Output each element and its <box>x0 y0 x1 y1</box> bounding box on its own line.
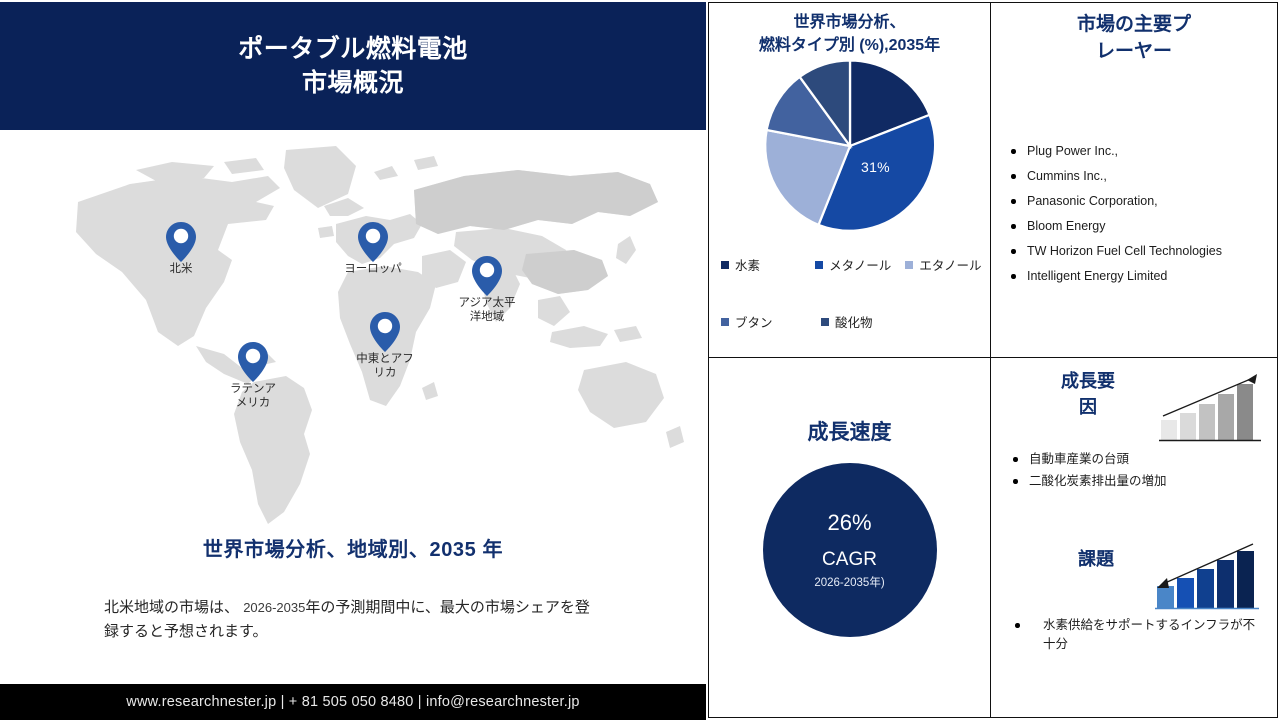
pie-legend: 水素 メタノール エタノール ブタン <box>715 255 990 369</box>
map-caption: 世界市場分析、地域別、2035 年 <box>0 533 706 562</box>
list-item: Plug Power Inc., <box>1005 143 1273 159</box>
bar <box>1161 420 1177 440</box>
bar <box>1237 551 1254 608</box>
bar <box>1217 560 1234 608</box>
bar <box>1218 394 1234 440</box>
world-map-svg <box>18 132 688 532</box>
map-pin-north-america[interactable]: 北米 <box>164 220 198 264</box>
location-pin-icon <box>470 254 504 298</box>
pie-chart-area: 31% <box>709 55 990 251</box>
list-item: 水素供給をサポートするインフラが不十分 <box>1001 616 1263 654</box>
map-description-years: 2026-2035 <box>243 600 305 615</box>
map-label-middle-east-africa: 中東とアフリカ <box>356 352 414 380</box>
list-item: 自動車産業の台頭 <box>1001 450 1267 468</box>
map-pin-latin-america[interactable]: ラテンアメリカ <box>236 340 270 384</box>
legend-label-butane: ブタン <box>735 312 773 331</box>
bar <box>1199 404 1215 440</box>
list-item: Bloom Energy <box>1005 218 1273 234</box>
legend-item-ethanol[interactable]: エタノール <box>905 255 990 274</box>
map-pin-asia-pacific[interactable]: アジア太平洋地域 <box>470 254 504 298</box>
page-title-line2: 市場概況 <box>302 69 404 97</box>
pie-panel-title: 世界市場分析、 燃料タイプ別 (%),2035年 <box>709 3 990 57</box>
location-pin-icon <box>164 220 198 264</box>
map-description-before: 北米地域の市場は、 <box>104 599 239 616</box>
key-players-panel: 市場の主要プ レーヤー Plug Power Inc., Cummins Inc… <box>990 2 1278 358</box>
challenges-list: 水素供給をサポートするインフラが不十分 <box>1001 616 1263 658</box>
pie-legend-row-2: ブタン 酸化物 <box>715 312 990 331</box>
pie-data-label: 31% <box>861 159 890 175</box>
location-pin-icon <box>356 220 390 264</box>
legend-item-methanol[interactable]: メタノール <box>815 255 905 274</box>
list-item: Intelligent Energy Limited <box>1005 268 1273 284</box>
legend-swatch-hydrogen <box>721 261 729 269</box>
challenges-title: 課題 <box>1041 546 1151 572</box>
legend-swatch-oxide <box>821 318 829 326</box>
growth-factors-title-line1: 成長要 <box>1061 371 1115 391</box>
infographic-page: ポータブル燃料電池 市場概況 <box>0 0 1280 720</box>
arrow-head-icon <box>1247 374 1257 384</box>
legend-swatch-ethanol <box>905 261 913 269</box>
legend-item-hydrogen[interactable]: 水素 <box>715 255 815 274</box>
bar <box>1177 578 1194 608</box>
cagr-label: CAGR <box>822 547 877 573</box>
drivers-challenges-panel: 成長要 因 自動車産業の台頭 二酸化炭素排出量の増加 課題 <box>990 357 1278 718</box>
map-label-latin-america: ラテンアメリカ <box>227 382 279 410</box>
list-item: 二酸化炭素排出量の増加 <box>1001 472 1267 490</box>
metrics-grid: 世界市場分析、 燃料タイプ別 (%),2035年 <box>708 2 1278 718</box>
legend-label-oxide: 酸化物 <box>835 312 873 331</box>
pie-title-line2: 燃料タイプ別 (%),2035年 <box>759 37 940 54</box>
pie-legend-row-1: 水素 メタノール エタノール <box>715 255 990 274</box>
bar <box>1180 413 1196 440</box>
list-item: Cummins Inc., <box>1005 168 1273 184</box>
legend-label-ethanol: エタノール <box>919 255 981 274</box>
world-map: 北米 ラテンアメリカ ヨーロッパ <box>0 132 706 532</box>
legend-label-methanol: メタノール <box>829 255 891 274</box>
location-pin-icon <box>236 340 270 384</box>
cagr-value: 26% <box>827 509 871 537</box>
growth-rate-title: 成長速度 <box>709 416 990 446</box>
page-title: ポータブル燃料電池 市場概況 <box>238 32 468 100</box>
bar <box>1237 384 1253 440</box>
legend-swatch-butane <box>721 318 729 326</box>
bar <box>1197 569 1214 608</box>
page-title-line1: ポータブル燃料電池 <box>238 35 468 63</box>
footer-contact: www.researchnester.jp | + 81 505 050 848… <box>126 694 579 710</box>
players-title-line1: 市場の主要プ <box>1077 14 1191 35</box>
key-players-list: Plug Power Inc., Cummins Inc., Panasonic… <box>1005 143 1273 293</box>
bar <box>1157 586 1174 608</box>
map-label-asia-pacific: アジア太平洋地域 <box>458 296 516 324</box>
growth-factors-title-line2: 因 <box>1079 397 1097 417</box>
map-description: 北米地域の市場は、 2026-2035年の予測期間中に、最大の市場シェアを登録す… <box>104 596 604 644</box>
map-label-north-america: 北米 <box>155 262 207 276</box>
map-label-europe: ヨーロッパ <box>340 262 406 276</box>
location-pin-icon <box>368 310 402 354</box>
map-pin-middle-east-africa[interactable]: 中東とアフリカ <box>368 310 402 354</box>
fuel-type-pie-panel: 世界市場分析、 燃料タイプ別 (%),2035年 <box>708 2 991 358</box>
page-title-band: ポータブル燃料電池 市場概況 <box>0 2 706 130</box>
cagr-badge: 26% CAGR 2026-2035年) <box>763 463 937 637</box>
pie-title-line1: 世界市場分析、 <box>793 14 905 31</box>
legend-item-oxide[interactable]: 酸化物 <box>821 312 917 331</box>
growth-trend-bar-chart <box>1157 368 1265 446</box>
legend-label-hydrogen: 水素 <box>735 255 760 274</box>
footer-band: www.researchnester.jp | + 81 505 050 848… <box>0 684 706 720</box>
cagr-period: 2026-2035年) <box>814 575 884 591</box>
regional-overview-panel: ポータブル燃料電池 市場概況 <box>0 0 706 720</box>
list-item: TW Horizon Fuel Cell Technologies <box>1005 243 1273 259</box>
pie-data-label-value: 31% <box>861 159 890 175</box>
legend-swatch-methanol <box>815 261 823 269</box>
challenges-bar-chart <box>1153 538 1263 614</box>
players-panel-title: 市場の主要プ レーヤー <box>991 3 1277 65</box>
fuel-type-pie-chart[interactable] <box>759 55 941 237</box>
map-pin-europe[interactable]: ヨーロッパ <box>356 220 390 264</box>
arrow-head-icon <box>1157 578 1169 588</box>
legend-item-butane[interactable]: ブタン <box>715 312 821 331</box>
growth-factors-list: 自動車産業の台頭 二酸化炭素排出量の増加 <box>1001 450 1267 494</box>
growth-rate-panel: 成長速度 26% CAGR 2026-2035年) <box>708 357 991 718</box>
list-item: Panasonic Corporation, <box>1005 193 1273 209</box>
players-title-line2: レーヤー <box>1096 41 1172 62</box>
growth-factors-title: 成長要 因 <box>1029 368 1147 420</box>
